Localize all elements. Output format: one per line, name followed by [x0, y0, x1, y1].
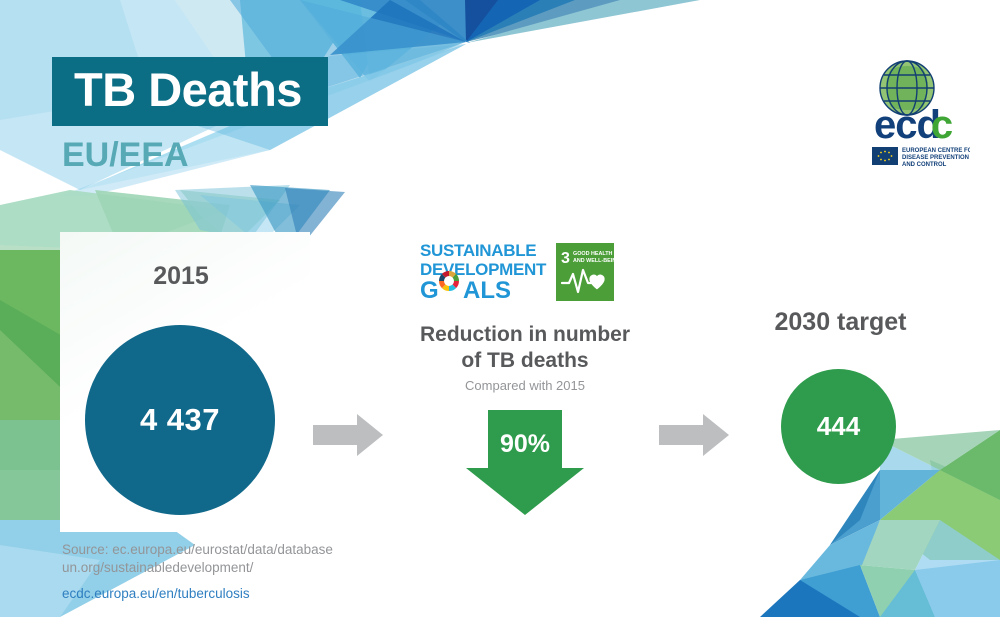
sdg-goal3-number: 3 [561, 250, 570, 267]
sdg-goal3-title-line1: GOOD HEALTH [573, 251, 613, 257]
reduction-subheading: Compared with 2015 [405, 378, 645, 393]
arrow-left-to-middle [313, 414, 383, 456]
reduction-heading: Reduction in number of TB deaths [405, 322, 645, 375]
reduction-down-arrow [466, 410, 584, 515]
sdg-goal3-title-line2: AND WELL-BEING [573, 258, 614, 264]
sdg-goal3-tile: 3 GOOD HEALTH AND WELL-BEING [556, 243, 614, 306]
logo-tagline-line3: AND CONTROL [902, 162, 947, 168]
year-label-2015: 2015 [116, 262, 246, 291]
sdg-line3-post: ALS [463, 277, 511, 302]
ecdc-tuberculosis-link[interactable]: ecdc.europa.eu/en/tuberculosis [62, 586, 333, 601]
tb-deaths-2015-circle: 4 437 [85, 325, 275, 515]
logo-tagline-line2: DISEASE PREVENTION [902, 155, 969, 161]
source-line-1: Source: ec.europa.eu/eurostat/data/datab… [62, 541, 333, 559]
page-title-bar: TB Deaths [52, 57, 328, 126]
sdg-line3-pre: G [420, 277, 439, 302]
sdg-colour-wheel-icon [439, 271, 459, 291]
reduction-heading-line1: Reduction in number [405, 322, 645, 348]
page-title: TB Deaths [74, 65, 302, 114]
arrow-middle-to-right [659, 414, 729, 456]
source-line-2: un.org/sustainabledevelopment/ [62, 559, 333, 577]
tb-deaths-2030-circle: 444 [781, 369, 896, 484]
infographic-poster: TB Deaths EU/EEA [0, 0, 1000, 617]
target-label-2030: 2030 target [753, 308, 928, 337]
reduction-percent-label: 90% [466, 430, 584, 459]
eu-flag-icon [872, 147, 898, 165]
source-block: Source: ec.europa.eu/eurostat/data/datab… [62, 541, 333, 601]
tb-deaths-2015-value: 4 437 [140, 402, 220, 438]
page-subtitle: EU/EEA [62, 136, 189, 175]
content-layer: TB Deaths EU/EEA [0, 0, 1000, 617]
ecdc-logo: ecd c EUROPEAN CENTRE FOR DISEASE PREVEN… [845, 55, 970, 170]
reduction-heading-line2: of TB deaths [405, 348, 645, 374]
logo-tagline-line1: EUROPEAN CENTRE FOR [902, 148, 970, 154]
svg-text:c: c [931, 103, 953, 147]
tb-deaths-2030-value: 444 [817, 411, 860, 442]
sdg-line1: SUSTAINABLE [420, 241, 536, 260]
